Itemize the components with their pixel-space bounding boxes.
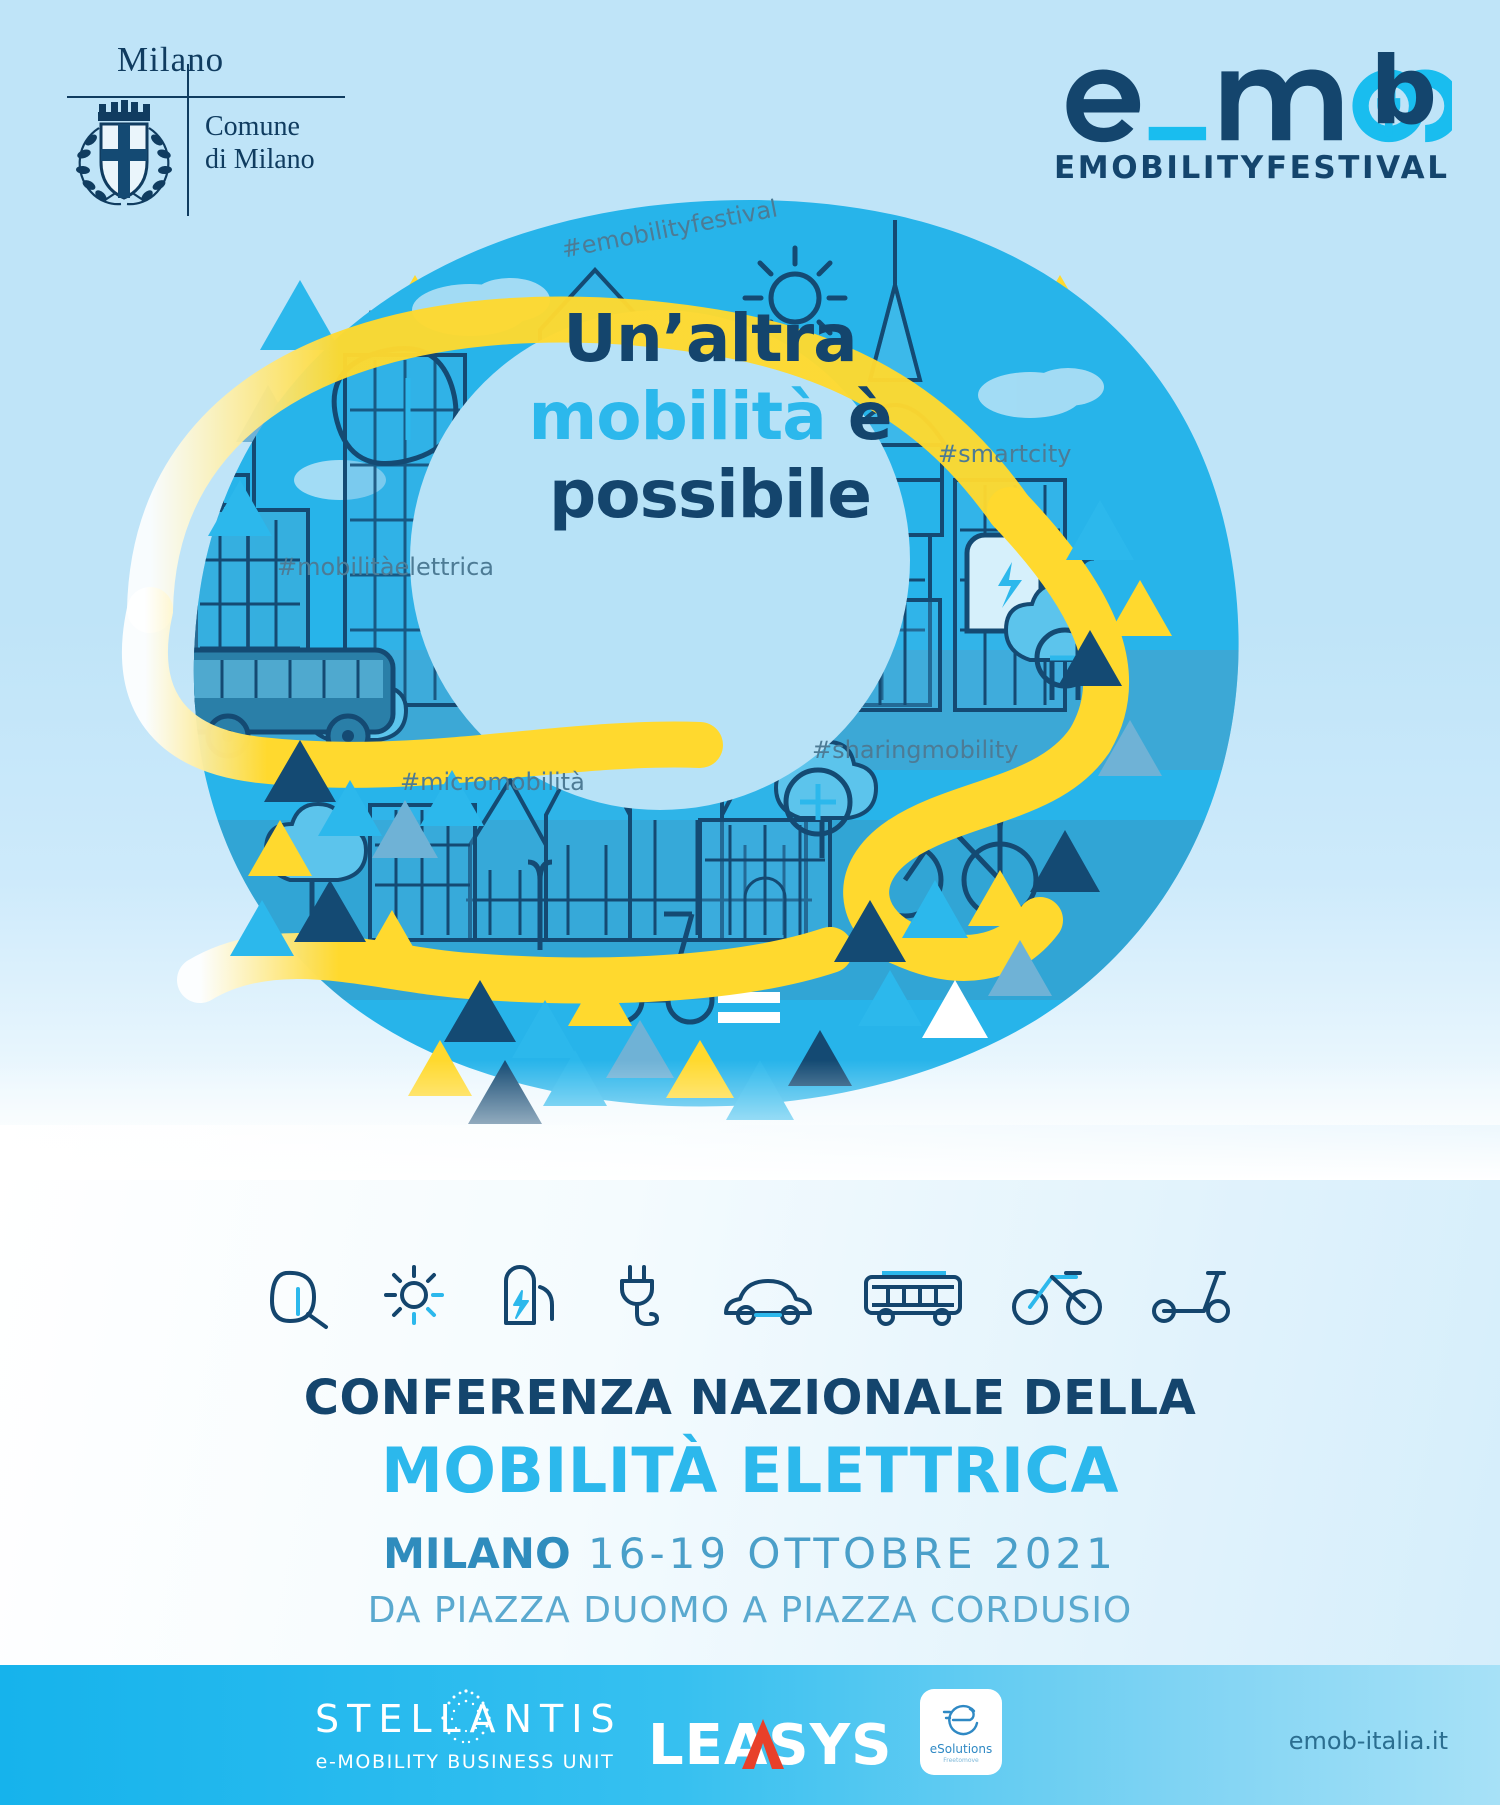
hashtag-micromobilita: #micromobilità [400, 768, 585, 796]
headline-line-2: mobilità è [430, 378, 990, 456]
esolutions-mark-icon [941, 1701, 981, 1739]
milano-coat-of-arms-icon [65, 100, 183, 212]
letter-m [1221, 69, 1342, 140]
letter-e [1066, 69, 1140, 142]
sponsor-stellantis[interactable]: STELLANTIS e-MOBILITY BUSINESS UNIT [315, 1697, 615, 1773]
comune-name-label: Comune di Milano [205, 110, 315, 176]
hashtag-mobilitaelettrica: #mobilitàelettrica [277, 553, 494, 581]
bicycle-icon [1010, 1259, 1106, 1331]
headline-line-3: possibile [430, 456, 990, 534]
underscore-accent [1149, 127, 1206, 140]
event-kicker: CONFERENZA NAZIONALE DELLA [0, 1370, 1500, 1426]
hashtag-sharingmobility: #sharingmobility [812, 736, 1018, 764]
sponsor-logos: STELLANTIS e-MOBILITY BUSINESS UNIT [0, 1665, 1500, 1805]
headline-line-1: Un’altra [430, 300, 990, 378]
car-icon [720, 1259, 816, 1331]
stellantis-star-icon [433, 1685, 499, 1751]
event-location: DA PIAZZA DUOMO A PIAZZA CORDUSIO [0, 1590, 1500, 1631]
leasys-accent-icon [734, 1717, 792, 1773]
event-details: CONFERENZA NAZIONALE DELLA MOBILITÀ ELET… [0, 1370, 1500, 1631]
emob-subtitle: EMOBILITYFESTIVAL [1054, 150, 1450, 186]
event-date-line: MILANO 16-19 OTTOBRE 2021 [0, 1529, 1500, 1578]
headline-highlight: mobilità [528, 378, 825, 455]
stellantis-tagline: e-MOBILITY BUSINESS UNIT [315, 1751, 615, 1773]
plug-icon [606, 1259, 678, 1331]
scooter-icon [1148, 1259, 1236, 1331]
logo-vertical-rule [187, 64, 189, 216]
event-title: MOBILITÀ ELETTRICA [0, 1434, 1500, 1507]
building-bottomright [700, 820, 830, 940]
sponsor-leasys[interactable]: LEASYS [648, 1713, 893, 1778]
leaf-icon [264, 1259, 336, 1331]
mobility-icon-strip [0, 1245, 1500, 1345]
letter-b-text: b [1370, 48, 1435, 136]
comune-di-milano-logo: Milano Comune di Milano [55, 38, 345, 213]
event-city: MILANO [383, 1529, 571, 1578]
emob-festival-logo: b EMOBILITYFESTIVAL [1052, 58, 1452, 188]
sun-icon [378, 1259, 450, 1331]
charging-station-icon [492, 1259, 564, 1331]
comune-line2: di Milano [205, 144, 315, 175]
sponsor-esolutions[interactable]: eSolutions Freetomove [920, 1689, 1002, 1775]
logo-horizontal-rule [67, 96, 345, 98]
bus-icon [858, 1259, 968, 1331]
hashtag-smartcity: #smartcity [938, 440, 1071, 468]
headline-line-2-tail: è [826, 378, 892, 455]
esolutions-name: eSolutions [930, 1742, 993, 1756]
hero-headline: Un’altra mobilità è possibile [430, 300, 990, 534]
esolutions-tagline: Freetomove [943, 1757, 979, 1764]
website-url[interactable]: emob-italia.it [1289, 1727, 1448, 1755]
comune-line1: Comune [205, 111, 300, 142]
poster: Milano Comune di Milano [0, 0, 1500, 1805]
event-dates: 16-19 OTTOBRE 2021 [588, 1529, 1117, 1578]
comune-city-label: Milano [117, 40, 224, 80]
